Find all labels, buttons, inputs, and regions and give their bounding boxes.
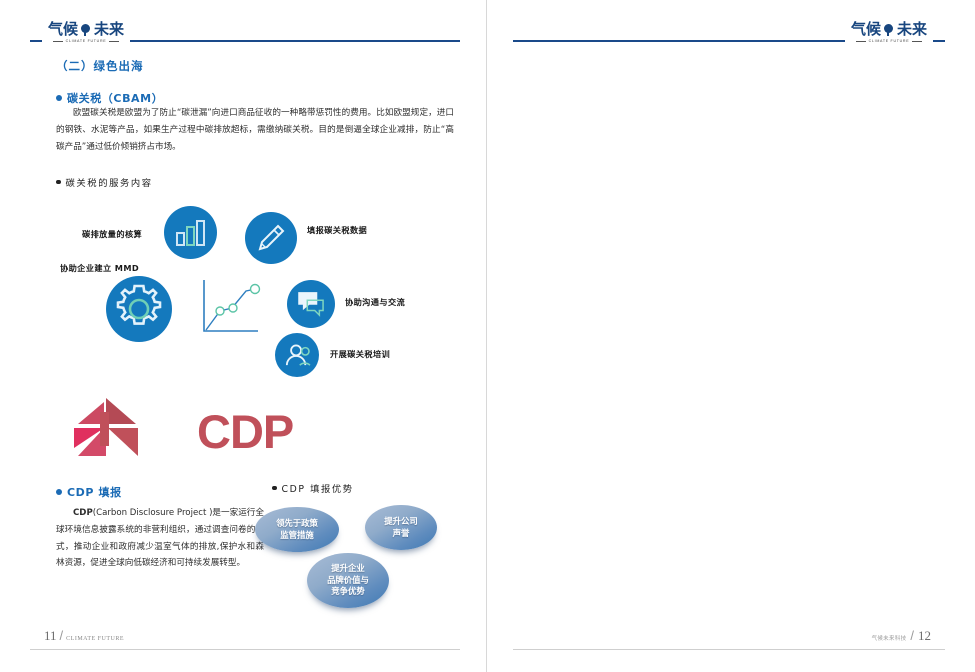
- logo-text-cn-part2: 未来: [897, 22, 927, 37]
- bullet-dot-icon: [56, 95, 62, 101]
- bullet-dot-small-icon: [56, 180, 61, 185]
- brand-logo-right: 气候 未来 CLIMATE FUTURE: [845, 22, 933, 43]
- people-icon-circle: [275, 333, 319, 377]
- cbam-heading-label: 碳关税（CBAM）: [67, 90, 163, 106]
- service-label-4: 开展碳关税培训: [330, 348, 390, 360]
- brand-logo-left: 气候 未来 CLIMATE FUTURE: [42, 22, 130, 43]
- advantage-label-2: 提升企业品牌价值与竞争优势: [327, 563, 369, 597]
- cdp-paragraph: CDP(Carbon Disclosure Project )是一家运行全球环境…: [56, 505, 264, 572]
- footer-caption: 气候未来科技: [872, 634, 907, 642]
- logo-text-cn-part1: 气候: [48, 22, 78, 37]
- two-page-spread: 气候 未来 CLIMATE FUTURE （二）绿色出海 碳关税（CBAM） 欧…: [0, 0, 975, 672]
- section-title: （二）绿色出海: [56, 58, 144, 74]
- pencil-icon: [256, 223, 286, 253]
- line-chart-graphic: [200, 278, 262, 341]
- footer-caption: CLIMATE FUTURE: [66, 636, 124, 642]
- logo-text-en: CLIMATE FUTURE: [869, 39, 910, 43]
- cdp-advantages-heading: CDP 填报优势: [272, 481, 354, 495]
- cdp-bold-term: CDP: [73, 508, 93, 518]
- service-label-3: 协助沟通与交流: [345, 296, 405, 308]
- page-number: 12: [918, 628, 931, 644]
- cdp-heading-label: CDP 填报: [67, 484, 122, 500]
- page-number: 11: [44, 628, 57, 644]
- service-label-1: 填报碳关税数据: [307, 224, 367, 236]
- cbam-service-diagram: 碳排放量的核算 填报碳关税数据 协助企业建立 MMD: [52, 200, 462, 375]
- logo-rule-right: [912, 41, 922, 42]
- cdp-english-term: (Carbon Disclosure Project ): [93, 508, 213, 518]
- page-slash: /: [910, 628, 914, 643]
- cdp-logo: CDP: [70, 398, 245, 460]
- advantage-bubble-1: 提升公司声誉: [365, 505, 437, 550]
- cdp-pinwheel-icon: [70, 398, 190, 460]
- cdp-advantages-group: 领先于政策监管措施 提升公司声誉 提升企业品牌价值与竞争优势: [255, 505, 455, 615]
- logo-text-en: CLIMATE FUTURE: [66, 39, 107, 43]
- cdp-heading: CDP 填报: [56, 484, 122, 500]
- footer-rule-left: [30, 649, 460, 650]
- bullet-dot-icon: [56, 489, 62, 495]
- bullet-dot-small-icon: [272, 486, 277, 491]
- service-content-label: 碳关税的服务内容: [56, 175, 153, 189]
- bar-chart-icon-circle: [164, 206, 217, 259]
- footer-left: 11 / CLIMATE FUTURE: [44, 628, 124, 644]
- footer-right: 气候未来科技 / 12: [872, 628, 931, 644]
- speech-bubble-icon-circle: [287, 280, 335, 328]
- pencil-icon-circle: [245, 212, 297, 264]
- logo-rule-left: [53, 41, 63, 42]
- left-page: 气候 未来 CLIMATE FUTURE （二）绿色出海 碳关税（CBAM） 欧…: [0, 0, 487, 672]
- logo-text-cn-part1: 气候: [851, 22, 881, 37]
- cdp-advantages-label: CDP 填报优势: [282, 481, 354, 495]
- people-icon: [283, 343, 311, 367]
- service-label-0: 碳排放量的核算: [82, 228, 142, 240]
- gear-icon-circle: [106, 276, 172, 342]
- logo-rule-right: [109, 41, 119, 42]
- globe-pin-icon: [883, 24, 895, 36]
- page-slash: /: [60, 628, 64, 643]
- footer-rule-right: [513, 649, 945, 650]
- advantage-bubble-2: 提升企业品牌价值与竞争优势: [307, 553, 389, 608]
- advantage-bubble-0: 领先于政策监管措施: [255, 507, 339, 552]
- service-label-2: 协助企业建立 MMD: [60, 262, 139, 274]
- logo-text-cn-part2: 未来: [94, 22, 124, 37]
- advantage-label-0: 领先于政策监管措施: [276, 518, 318, 541]
- right-page: 气候 未来 CLIMATE FUTURE 欧盟环境足迹（PEF） 欧盟环境足迹（…: [487, 0, 975, 672]
- cbam-heading: 碳关税（CBAM）: [56, 90, 163, 106]
- speech-bubble-icon: [296, 291, 326, 317]
- service-content-text: 碳关税的服务内容: [66, 175, 153, 189]
- cdp-wordmark: CDP: [197, 404, 293, 459]
- gear-icon: [112, 282, 166, 336]
- line-chart-icon: [200, 278, 262, 336]
- bar-chart-icon: [176, 220, 206, 246]
- cbam-paragraph: 欧盟碳关税是欧盟为了防止“碳泄漏”向进口商品征收的一种略带惩罚性的费用。比如欧盟…: [56, 105, 454, 155]
- globe-pin-icon: [80, 24, 92, 36]
- advantage-label-1: 提升公司声誉: [384, 516, 418, 539]
- logo-rule-left: [856, 41, 866, 42]
